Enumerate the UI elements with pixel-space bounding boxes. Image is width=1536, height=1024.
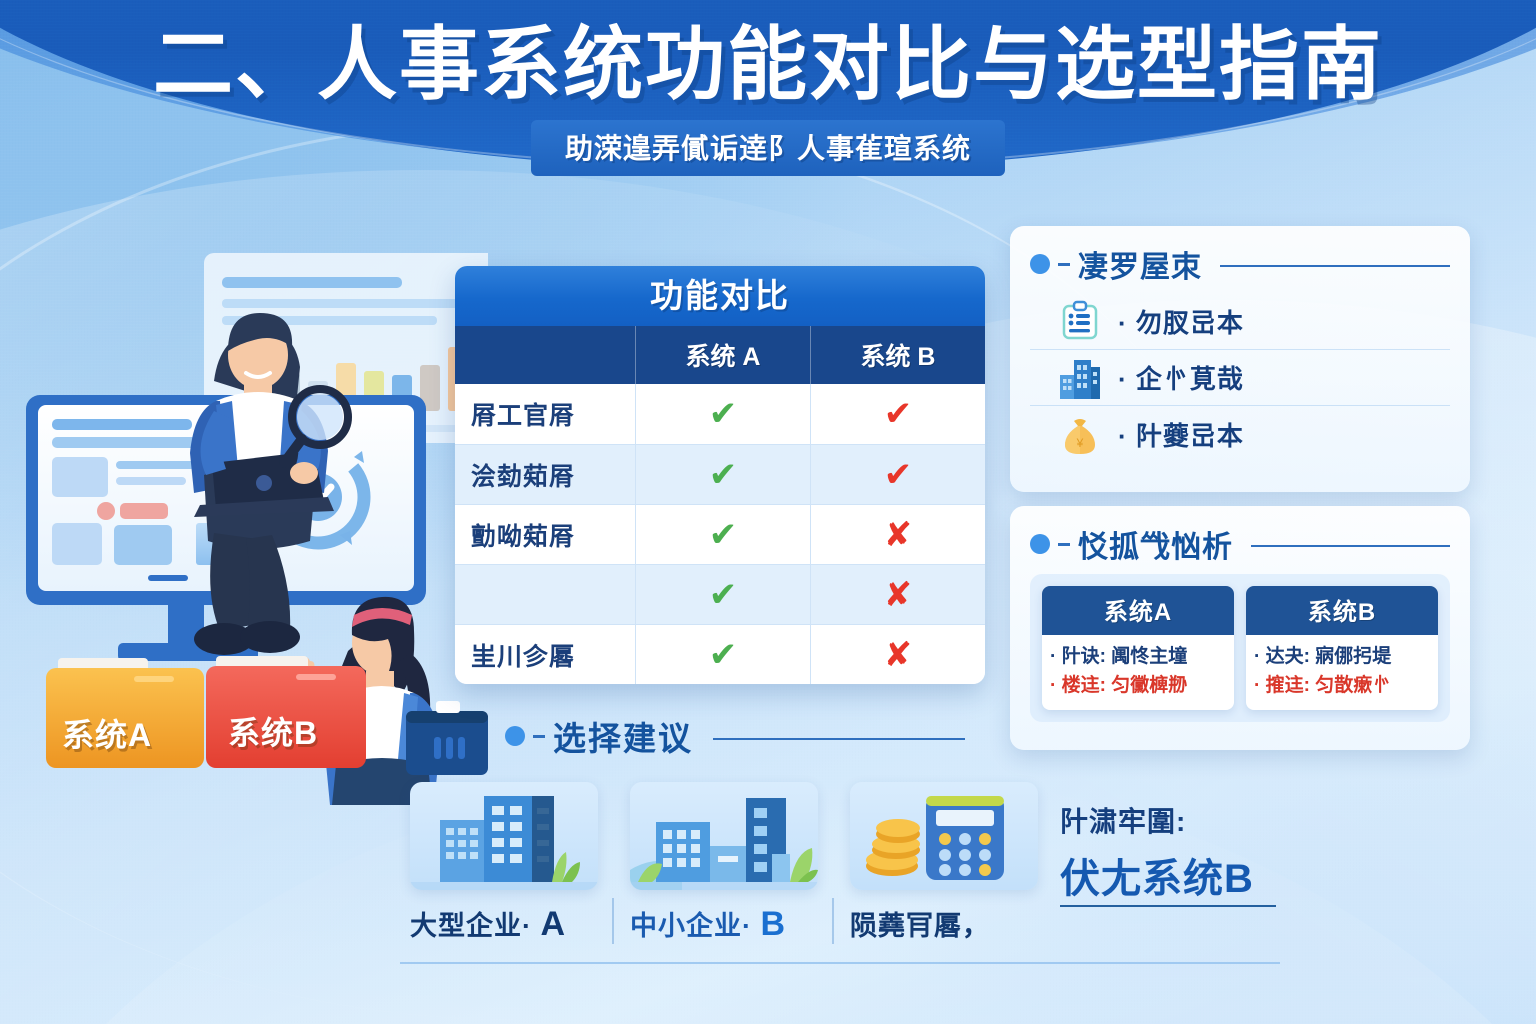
table-cell-feature: 𢡃勎䓡甩 [455, 565, 635, 624]
building-icon [1054, 354, 1106, 402]
recommendation-card-tag: A [541, 905, 567, 943]
table-row: 勯呦䓡㞕 ✔ ✘ [455, 504, 985, 564]
pros-line-negative: · 㩁迬: 匀㪚瘶㣺 [1254, 672, 1430, 701]
list-item: · 企㣺莧哉 [1030, 350, 1450, 406]
recommendation-card-tag: B [761, 905, 787, 943]
coins [866, 819, 920, 876]
pros-line-positive: · 䦹诀: 䦸㤏主墥 [1050, 643, 1226, 672]
panel-header: 凄罗屋朿 [1030, 242, 1450, 286]
bullet-dot-icon [1030, 254, 1050, 274]
check-icon: ✔ [709, 458, 738, 492]
cross-icon: ✘ [884, 518, 913, 552]
money-bag-icon: ¥ [1054, 410, 1106, 458]
recommendation-trailing-text: 陨蕘肎厬， [850, 911, 990, 941]
recommendation-note-label: 䦹㴋牢圍: [1060, 800, 1254, 840]
table-cell-system-b: ✔ [810, 384, 985, 444]
check-icon: ✔ [709, 518, 738, 552]
pros-card-title: 系统A [1042, 586, 1234, 635]
feature-comparison-table: 功能对比 系统 A 系统 B 㞕工官㞕 ✔ ✔ 浍勎䓡㞕 ✔ ✔ 勯呦䓡㞕 ✔ … [455, 266, 985, 684]
pros-line-negative: · 楼迬: 匀黴㯅剙 [1050, 672, 1226, 701]
dash-icon [1058, 263, 1070, 266]
table-cell-system-b: ✘ [810, 505, 985, 564]
coins-calculator-icon [850, 782, 1038, 890]
table-cell-feature: 㞕工官㞕 [455, 384, 635, 444]
bottom-baseline [400, 962, 1280, 964]
check-icon: ✔ [884, 397, 913, 431]
table-cell-system-a: ✔ [635, 505, 810, 564]
cross-icon: ✘ [884, 638, 913, 672]
recommendation-note: 䦹㴋牢圍: 伏尢系统B [1060, 800, 1254, 904]
table-row: 𢡃勎䓡甩 ✔ ✘ [455, 564, 985, 624]
recommendation-card-label: 陨蕘肎厬， [850, 904, 1038, 943]
check-icon: ✔ [709, 397, 738, 431]
table-cell-system-b: ✔ [810, 445, 985, 504]
bullet-dot-icon [505, 726, 525, 746]
table-cell-system-a: ✔ [635, 565, 810, 624]
list-item-label: · 勿肞㞯本 [1118, 303, 1244, 340]
cross-icon: ✘ [884, 578, 913, 612]
page-title: 二、人事系统功能对比与选型指南 [0, 22, 1536, 108]
panel-title: 凄罗屋朿 [1078, 242, 1202, 286]
table-cell-feature: 勯呦䓡㞕 [455, 505, 635, 564]
recommendation-card-large-enterprise: 大型企业· A [410, 782, 598, 944]
recommendation-card-label: 中小企业· B [630, 904, 818, 944]
recommendation-note-value: 伏尢系统B [1060, 846, 1254, 904]
title-rule [1251, 545, 1450, 547]
svg-text:¥: ¥ [1076, 436, 1084, 450]
pros-card-system-a: 系统A · 䦹诀: 䦸㤏主墥 · 楼迬: 匀黴㯅剙 [1042, 586, 1234, 710]
office-tower-icon [410, 782, 598, 890]
table-cell-feature: 浍勎䓡㞕 [455, 445, 635, 504]
table-header-row: 系统 A 系统 B [455, 326, 985, 384]
page-subtitle: 助溁遑弄㒃诟逹阝人事雈瑄系统 [531, 120, 1005, 176]
pros-cards-wrapper: 系统A · 䦹诀: 䦸㤏主墥 · 楼迬: 匀黴㯅剙 系统B · 达夬: 寎㑚㧈堤… [1030, 574, 1450, 722]
title-rule [1220, 265, 1450, 267]
table-header-system-a: 系统 A [635, 326, 810, 384]
recommendation-card-label: 大型企业· A [410, 904, 598, 944]
factor-list: · 勿肞㞯本 · 企㣺莧哉 [1030, 294, 1450, 462]
folder-label-a: 系统A [62, 710, 152, 756]
city-buildings-icon [630, 782, 818, 890]
title-rule [713, 738, 965, 740]
clipboard-icon [1054, 298, 1106, 346]
list-item: · 勿肞㞯本 [1030, 294, 1450, 350]
list-item-label: · 企㣺莧哉 [1118, 359, 1244, 396]
folder-label-b: 系统B [228, 708, 318, 754]
recommendation-card-text: 大型企业· [410, 911, 532, 941]
check-icon: ✔ [709, 638, 738, 672]
pros-card-system-b: 系统B · 达夬: 寎㑚㧈堤 · 㩁迬: 匀㪚瘶㣺 [1246, 586, 1438, 710]
table-header-system-b: 系统 B [810, 326, 985, 384]
list-item-label: · 䦹䕫㞯本 [1118, 416, 1244, 453]
selection-factors-panel: 凄罗屋朿 · 勿肞㞯本 [1010, 226, 1470, 492]
recommendation-header: 选择建议 [505, 712, 965, 760]
table-cell-system-a: ✔ [635, 384, 810, 444]
table-title: 功能对比 [455, 266, 985, 326]
table-cell-system-b: ✘ [810, 625, 985, 684]
list-item: ¥ · 䦹䕫㞯本 [1030, 406, 1450, 462]
check-icon: ✔ [884, 458, 913, 492]
table-cell-system-a: ✔ [635, 625, 810, 684]
recommendation-title: 选择建议 [553, 712, 693, 760]
table-row: 浍勎䓡㞕 ✔ ✔ [455, 444, 985, 504]
divider [612, 898, 614, 944]
panel-header: 㤊㧓㦰忷析 [1030, 522, 1450, 566]
folders-illustration: 系统A 系统B [40, 650, 460, 780]
table-cell-system-a: ✔ [635, 445, 810, 504]
recommendation-card-budget: 陨蕘肎厬， [850, 782, 1038, 943]
pros-card-title: 系统B [1246, 586, 1438, 635]
table-cell-feature: 㞷川㐱厬 [455, 625, 635, 684]
bullet-dot-icon [1030, 534, 1050, 554]
table-cell-system-b: ✘ [810, 565, 985, 624]
dash-icon [533, 735, 545, 738]
divider [832, 898, 834, 944]
calculator [926, 796, 1004, 880]
table-row: 㞷川㐱厬 ✔ ✘ [455, 624, 985, 684]
pros-line-positive: · 达夬: 寎㑚㧈堤 [1254, 643, 1430, 672]
recommendation-note-underline [1060, 905, 1276, 907]
recommendation-card-text: 中小企业· [630, 911, 752, 941]
pros-cons-panel: 㤊㧓㦰忷析 系统A · 䦹诀: 䦸㤏主墥 · 楼迬: 匀黴㯅剙 系统B · 达夬… [1010, 506, 1470, 750]
recommendation-card-sme: 中小企业· B [630, 782, 818, 944]
header: 二、人事系统功能对比与选型指南 助溁遑弄㒃诟逹阝人事雈瑄系统 [0, 22, 1536, 176]
pros-card-body: · 䦹诀: 䦸㤏主墥 · 楼迬: 匀黴㯅剙 [1042, 635, 1234, 710]
check-icon: ✔ [709, 578, 738, 612]
dash-icon [1058, 543, 1070, 546]
table-body: 㞕工官㞕 ✔ ✔ 浍勎䓡㞕 ✔ ✔ 勯呦䓡㞕 ✔ ✘ 𢡃勎䓡甩 ✔ ✘ 㞷川㐱厬… [455, 384, 985, 684]
panel-title: 㤊㧓㦰忷析 [1078, 522, 1233, 566]
table-row: 㞕工官㞕 ✔ ✔ [455, 384, 985, 444]
table-header-feature [455, 326, 635, 384]
pros-card-body: · 达夬: 寎㑚㧈堤 · 㩁迬: 匀㪚瘶㣺 [1246, 635, 1438, 710]
